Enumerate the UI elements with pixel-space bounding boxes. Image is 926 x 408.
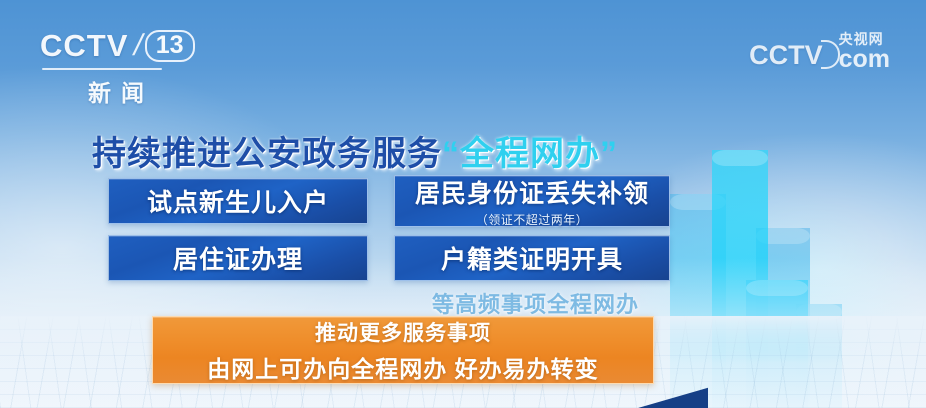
service-item-subtitle: （领证不超过两年） bbox=[476, 211, 589, 228]
watermark-arc-icon bbox=[821, 40, 840, 69]
service-item-box-4: 户籍类证明开具 bbox=[394, 235, 670, 281]
headline-highlight: 全程网办 bbox=[460, 135, 600, 173]
watermark-tld: com bbox=[839, 47, 890, 71]
cctv13-logo: CCTV / 13 新闻 bbox=[40, 28, 196, 108]
summary-banner: 推动更多服务事项 由网上可办向全程网办 好办易办转变 bbox=[152, 316, 654, 384]
service-item-title: 试点新生儿入户 bbox=[147, 183, 329, 219]
summary-banner-line-1: 推动更多服务事项 bbox=[315, 317, 491, 347]
headline-prefix: 持续推进公安政务服务 bbox=[92, 135, 442, 173]
logo-subtitle: 新闻 bbox=[36, 74, 196, 108]
watermark-chinese-name: 央视网 bbox=[839, 32, 884, 46]
service-item-box-1: 试点新生儿入户 bbox=[108, 178, 368, 224]
logo-underline-rule bbox=[42, 68, 162, 70]
broadcast-graphic: CCTV / 13 新闻 CCTV 央视网 com 持续推进公安政务服务“全程网… bbox=[0, 0, 926, 408]
logo-channel-number: 13 bbox=[145, 30, 195, 62]
service-item-box-3: 居住证办理 bbox=[108, 235, 368, 281]
service-item-box-2: 居民身份证丢失补领 （领证不超过两年） bbox=[394, 175, 670, 227]
service-item-title: 居民身份证丢失补领 bbox=[415, 174, 649, 210]
headline-quote-close: ” bbox=[600, 135, 618, 173]
logo-wordmark: CCTV bbox=[40, 28, 128, 64]
watermark-wordmark: CCTV bbox=[749, 40, 823, 71]
etc-caption: 等高频事项全程网办 bbox=[432, 287, 639, 319]
service-item-title: 居住证办理 bbox=[173, 240, 303, 276]
summary-banner-line-2: 由网上可办向全程网办 好办易办转变 bbox=[207, 350, 598, 384]
service-item-title: 户籍类证明开具 bbox=[441, 240, 623, 276]
bar-2-cap bbox=[712, 150, 768, 166]
page-title: 持续推进公安政务服务“全程网办” bbox=[92, 126, 618, 175]
cctv-com-watermark: CCTV 央视网 com bbox=[749, 32, 890, 71]
headline-quote-open: “ bbox=[442, 135, 460, 173]
